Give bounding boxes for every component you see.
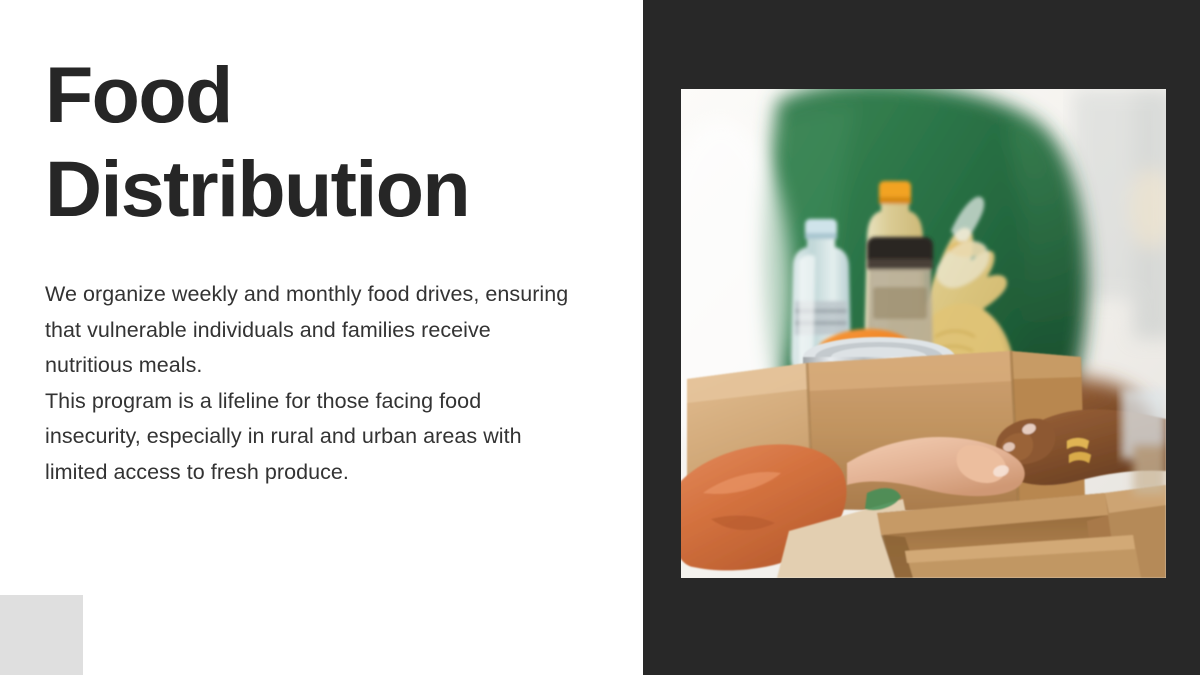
body-copy: We organize weekly and monthly food driv… xyxy=(45,277,575,490)
left-content-panel: Food Distribution We organize weekly and… xyxy=(0,0,643,675)
food-donation-box-photo xyxy=(681,89,1166,578)
paragraph-1: We organize weekly and monthly food driv… xyxy=(45,277,575,384)
dark-image-panel xyxy=(643,0,1200,675)
slide-root: Food Distribution We organize weekly and… xyxy=(0,0,1200,675)
page-title-line-2: Distribution xyxy=(45,142,605,236)
page-title: Food Distribution xyxy=(45,48,605,236)
page-title-line-1: Food xyxy=(45,48,605,142)
gray-accent-block xyxy=(0,595,83,675)
paragraph-2: This program is a lifeline for those fac… xyxy=(45,384,575,491)
